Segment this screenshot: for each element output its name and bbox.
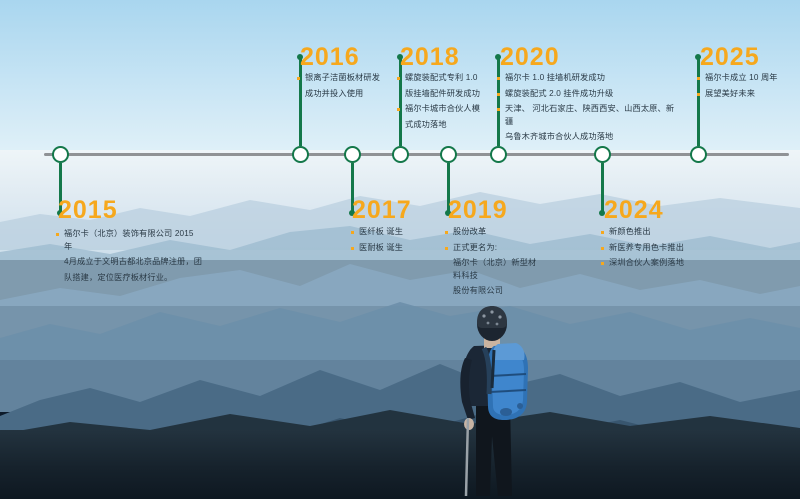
timeline-bullet: 深圳合伙人案例落地 xyxy=(600,257,720,270)
timeline-bullet: 股份改革 xyxy=(444,226,544,239)
timeline-detail-2025: 福尔卡成立 10 周年展望美好未来 xyxy=(696,72,796,103)
timeline-year-2024: 2024 xyxy=(604,198,664,223)
timeline-detail-2019: 股份改革正式更名为:福尔卡（北京）新型材料科技股份有限公司 xyxy=(444,226,544,301)
timeline-bullet: 正式更名为: xyxy=(444,242,544,255)
hiker-figure xyxy=(432,306,552,499)
timeline-detail-2020: 福尔卡 1.0 挂墙机研发成功螺旋装配式 2.0 挂件成功升级天津、 河北石家庄… xyxy=(496,72,681,147)
timeline-year-2018: 2018 xyxy=(400,45,460,70)
timeline-node-2016[interactable] xyxy=(292,146,309,163)
timeline-detail-2016: 银离子洁菌板材研发成功并投入使用 xyxy=(296,72,388,103)
timeline-year-2017: 2017 xyxy=(352,198,412,223)
timeline-bullet: 式成功落地 xyxy=(396,119,492,132)
timeline-bullet: 银离子洁菌板材研发 xyxy=(296,72,388,85)
timeline-node-2017[interactable] xyxy=(344,146,361,163)
timeline-year-2016: 2016 xyxy=(300,45,360,70)
timeline-detail-2018: 螺旋装配式专利 1.0版挂墙配件研发成功福尔卡城市合伙人模式成功落地 xyxy=(396,72,492,134)
timeline-bullet: 医纤板 诞生 xyxy=(350,226,440,239)
timeline-bullet: 版挂墙配件研发成功 xyxy=(396,88,492,101)
timeline-detail-2024: 新颜色推出新医养专用色卡推出深圳合伙人案例落地 xyxy=(600,226,720,273)
timeline-bullet: 福尔卡成立 10 周年 xyxy=(696,72,796,85)
timeline-bullet: 螺旋装配式 2.0 挂件成功升级 xyxy=(496,88,681,101)
timeline-node-2018[interactable] xyxy=(392,146,409,163)
timeline-node-2025[interactable] xyxy=(690,146,707,163)
timeline-node-2024[interactable] xyxy=(594,146,611,163)
timeline-bullet: 成功并投入使用 xyxy=(296,88,388,101)
timeline-bullet: 天津、 河北石家庄、陕西西安、山西太原、新疆 xyxy=(496,103,681,128)
timeline-year-2015: 2015 xyxy=(58,198,118,223)
timeline-node-2019[interactable] xyxy=(440,146,457,163)
timeline-bullet: 队搭建，定位医疗板材行业。 xyxy=(55,272,203,285)
timeline-bullet: 医耐板 诞生 xyxy=(350,242,440,255)
timeline-bullet: 新颜色推出 xyxy=(600,226,720,239)
timeline-bullet: 福尔卡（北京）装饰有限公司 2015 年 xyxy=(55,228,203,253)
timeline-node-2020[interactable] xyxy=(490,146,507,163)
timeline-year-2019: 2019 xyxy=(448,198,508,223)
timeline-bullet: 螺旋装配式专利 1.0 xyxy=(396,72,492,85)
timeline-infographic: 2015福尔卡（北京）装饰有限公司 2015 年4月成立于文明古都北京品牌注册，… xyxy=(0,0,800,499)
timeline-bullet: 4月成立于文明古都北京品牌注册，团 xyxy=(55,256,203,269)
timeline-axis xyxy=(44,153,789,156)
timeline-bullet: 福尔卡（北京）新型材料科技 xyxy=(444,257,544,282)
timeline-year-2025: 2025 xyxy=(700,45,760,70)
timeline-bullet: 福尔卡 1.0 挂墙机研发成功 xyxy=(496,72,681,85)
timeline-bullet: 福尔卡城市合伙人模 xyxy=(396,103,492,116)
timeline-detail-2015: 福尔卡（北京）装饰有限公司 2015 年4月成立于文明古都北京品牌注册，团队搭建… xyxy=(55,228,203,287)
timeline-bullet: 新医养专用色卡推出 xyxy=(600,242,720,255)
timeline-bullet: 乌鲁木齐城市合伙人成功落地 xyxy=(496,131,681,144)
timeline-bullet: 展望美好未来 xyxy=(696,88,796,101)
timeline-bullet: 股份有限公司 xyxy=(444,285,544,298)
timeline-node-2015[interactable] xyxy=(52,146,69,163)
timeline-year-2020: 2020 xyxy=(500,45,560,70)
timeline-detail-2017: 医纤板 诞生医耐板 诞生 xyxy=(350,226,440,257)
foreground-shadow xyxy=(0,430,800,499)
